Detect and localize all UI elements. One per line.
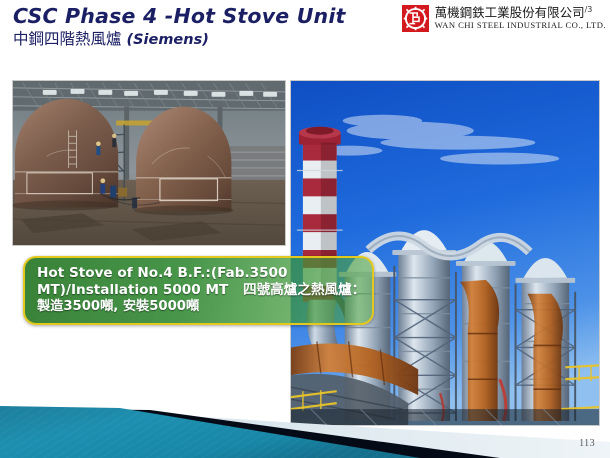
page-title: CSC Phase 4 -Hot Stove Unit 中鋼四階熱風爐 (Sie… xyxy=(13,6,413,48)
caption-line-2-english: MT)/Installation 5000 MT xyxy=(37,282,228,298)
slide-set-marker: /3 xyxy=(585,5,593,14)
caption-box: Hot Stove of No.4 B.F.:(Fab.3500 MT)/Ins… xyxy=(23,256,374,325)
title-english: CSC Phase 4 -Hot Stove Unit xyxy=(13,6,413,28)
title-vendor: (Siemens) xyxy=(126,32,208,48)
company-name-block: 萬機鋼鉄工業股份有限公司/3 WAN CHI STEEL INDUSTRIAL … xyxy=(435,5,606,31)
page-number: 113 xyxy=(579,438,595,449)
photo-hot-stove-plant-installed xyxy=(290,80,600,426)
caption-line-3: 製造3500噸, 安裝5000噸 xyxy=(37,299,362,315)
slide-canvas: CSC Phase 4 -Hot Stove Unit 中鋼四階熱風爐 (Sie… xyxy=(0,0,610,458)
title-chinese: 中鋼四階熱風爐 (Siemens) xyxy=(13,31,413,49)
company-name-english: WAN CHI STEEL INDUSTRIAL CO., LTD. xyxy=(435,20,606,31)
company-logo: 萬機鋼鉄工業股份有限公司/3 WAN CHI STEEL INDUSTRIAL … xyxy=(402,5,606,32)
title-chinese-text: 中鋼四階熱風爐 xyxy=(13,30,122,48)
company-name-chinese-text: 萬機鋼鉄工業股份有限公司 xyxy=(435,5,585,20)
caption-line-2-chinese: 四號高爐之熱風爐： xyxy=(243,282,365,298)
company-name-chinese: 萬機鋼鉄工業股份有限公司/3 xyxy=(435,6,606,19)
caption-line-1: Hot Stove of No.4 B.F.:(Fab.3500 xyxy=(37,265,362,282)
caption-line-2: MT)/Installation 5000 MT 四號高爐之熱風爐： xyxy=(37,282,362,299)
wan-chi-steel-logo-icon xyxy=(402,5,429,32)
photo-hot-stove-domes-fabrication xyxy=(12,80,286,246)
